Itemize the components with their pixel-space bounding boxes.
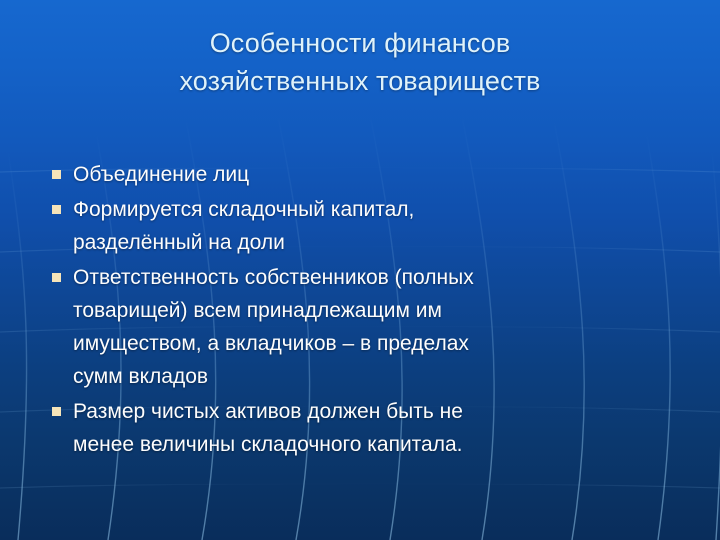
square-bullet-icon (52, 407, 61, 416)
bullet-2-line-2: разделённый на доли (73, 226, 672, 259)
bullet-4-line-2: менее величины складочного капитала. (73, 428, 672, 461)
bullet-3-line-1: Ответственность собственников (полных (73, 261, 672, 294)
slide-title-line-1: Особенности финансов (60, 24, 660, 62)
bullet-text-2: Формируется складочный капитал, разделён… (73, 193, 672, 259)
bullet-text-1: Объединение лиц (73, 158, 672, 191)
square-bullet-icon (52, 170, 61, 179)
slide-body-bullet-list: Объединение лиц Формируется складочный к… (52, 158, 672, 463)
square-bullet-icon (52, 273, 61, 282)
square-bullet-icon (52, 205, 61, 214)
bullet-2-line-1: Формируется складочный капитал, (73, 193, 672, 226)
presentation-slide: Особенности финансов хозяйственных товар… (0, 0, 720, 540)
list-item: Ответственность собственников (полных то… (52, 261, 672, 393)
slide-title-line-2: хозяйственных товариществ (60, 62, 660, 100)
list-item: Формируется складочный капитал, разделён… (52, 193, 672, 259)
bullet-text-3: Ответственность собственников (полных то… (73, 261, 672, 393)
list-item: Размер чистых активов должен быть не мен… (52, 395, 672, 461)
bullet-3-line-2: товарищей) всем принадлежащим им (73, 294, 672, 327)
bullet-text-4: Размер чистых активов должен быть не мен… (73, 395, 672, 461)
bullet-3-line-3: имуществом, а вкладчиков – в пределах (73, 327, 672, 360)
bullet-3-line-4: сумм вкладов (73, 360, 672, 393)
slide-title: Особенности финансов хозяйственных товар… (60, 24, 660, 100)
list-item: Объединение лиц (52, 158, 672, 191)
bullet-4-line-1: Размер чистых активов должен быть не (73, 395, 672, 428)
bullet-1-line-1: Объединение лиц (73, 158, 672, 191)
